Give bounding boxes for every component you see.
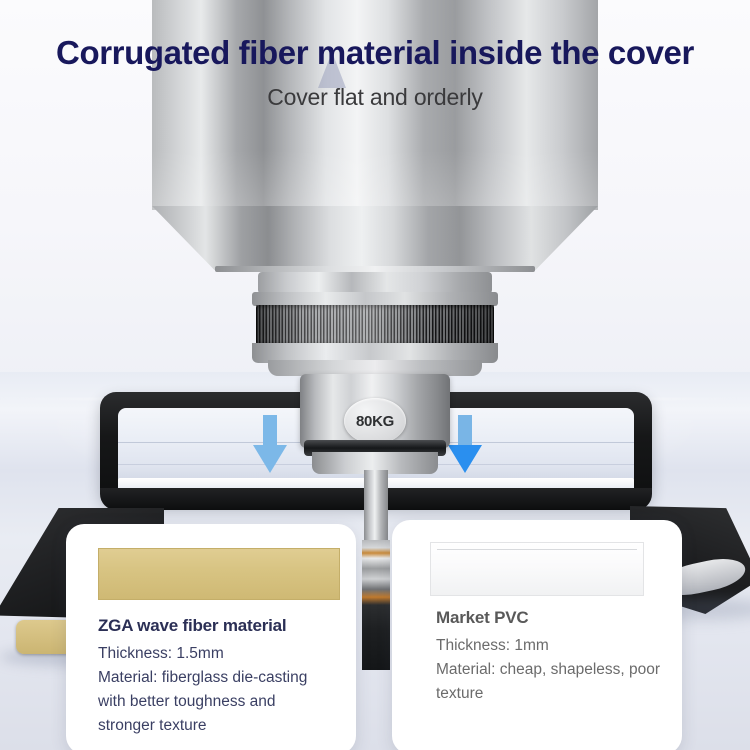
info-card-pvc-title: Market PVC	[436, 608, 528, 628]
press-collar-top	[258, 272, 492, 294]
gold-fiber-swatch	[98, 548, 340, 600]
page-title: Corrugated fiber material inside the cov…	[0, 34, 750, 72]
load-weight-label: 80KG	[356, 413, 394, 430]
press-collar-ring	[252, 292, 498, 306]
info-card-pvc-body: Thickness: 1mm Material: cheap, shapeles…	[436, 634, 666, 706]
product-feature-image: 80KG ZGA wave fiber material Thickness: …	[0, 0, 750, 750]
white-pvc-swatch	[430, 542, 644, 596]
info-card-zga: ZGA wave fiber material Thickness: 1.5mm…	[66, 524, 356, 750]
press-piston-rod	[364, 470, 388, 542]
info-card-pvc: Market PVC Thickness: 1mm Material: chea…	[392, 520, 682, 750]
info-card-zga-title: ZGA wave fiber material	[98, 616, 286, 636]
press-machine-cone	[152, 206, 598, 270]
pressure-arrow-left-icon	[253, 415, 287, 473]
pressure-arrow-right-icon	[448, 415, 482, 473]
press-knurled-collar	[256, 305, 494, 345]
page-subtitle: Cover flat and orderly	[0, 84, 750, 111]
info-card-zga-body: Thickness: 1.5mm Material: fiberglass di…	[98, 642, 336, 738]
load-weight-badge: 80KG	[344, 398, 406, 444]
press-piston-rod-lower	[362, 540, 390, 670]
